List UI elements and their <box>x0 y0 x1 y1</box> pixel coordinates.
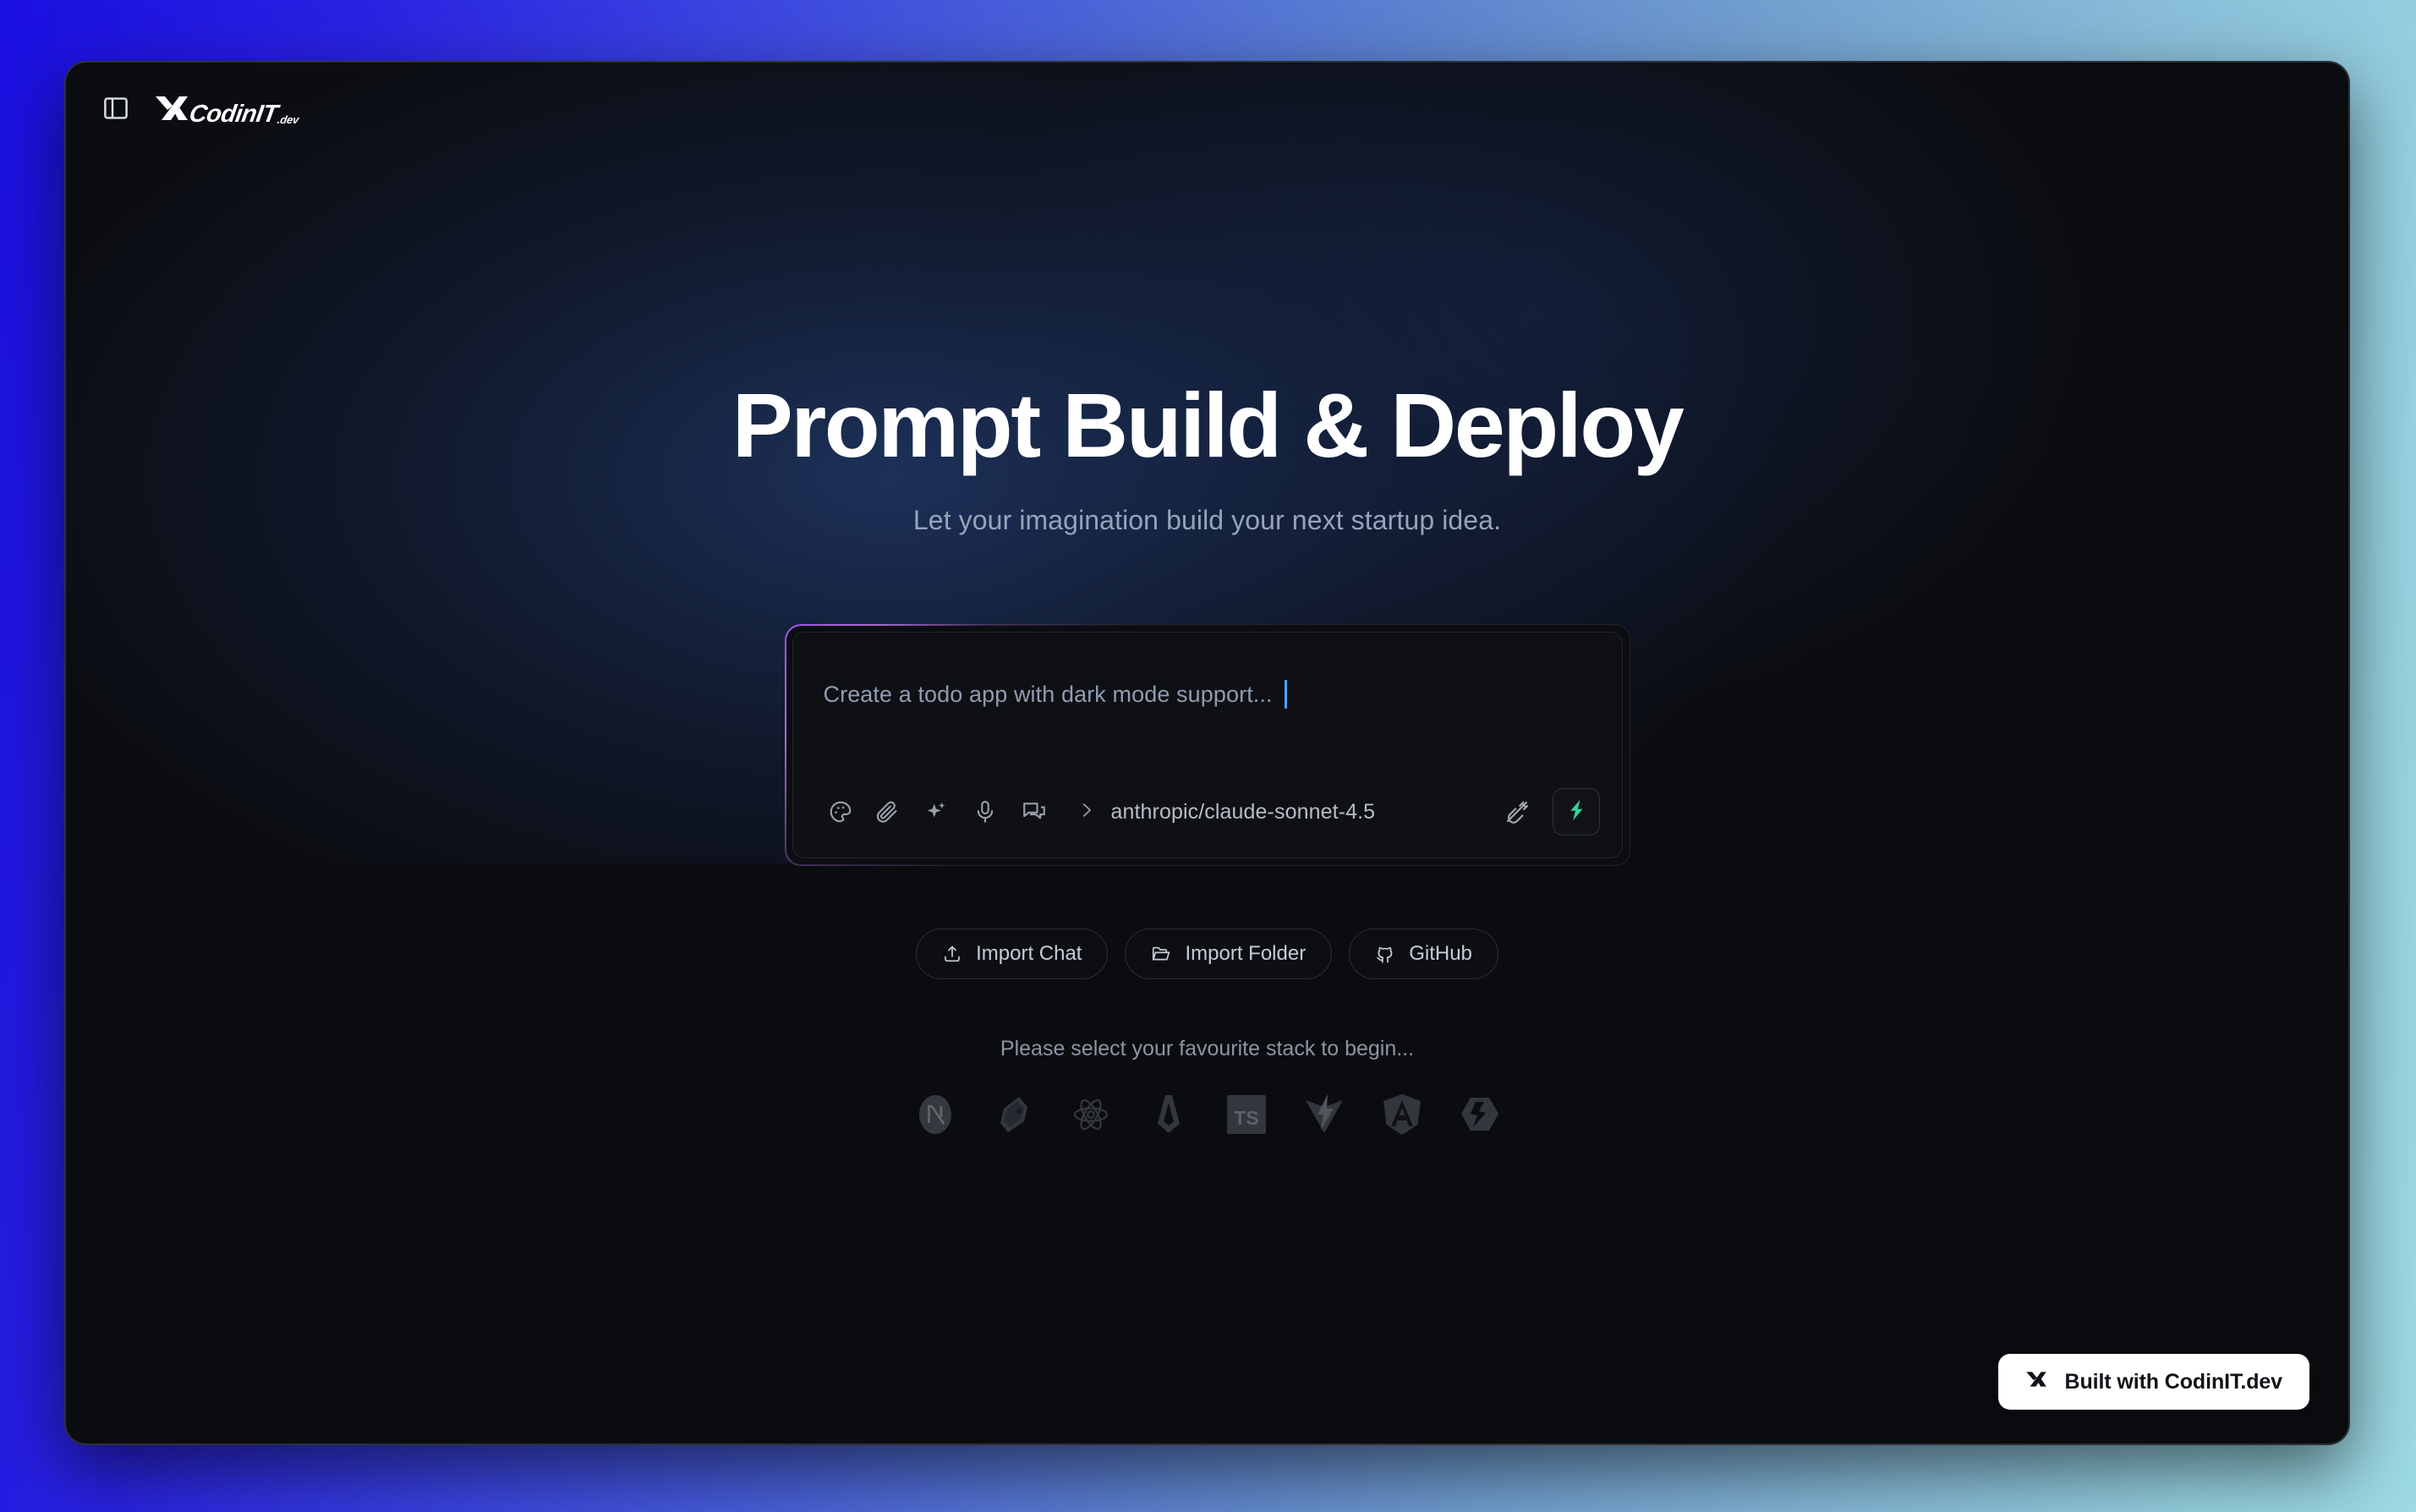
palette-icon[interactable] <box>819 791 863 833</box>
panel-left-icon <box>104 97 128 123</box>
svelte-icon[interactable] <box>989 1090 1038 1139</box>
qwik-icon[interactable] <box>1455 1090 1504 1139</box>
prompt-composer: Create a todo app with dark mode support… <box>785 624 1630 866</box>
codinit-x-icon <box>2025 1370 2047 1394</box>
prompt-input-placeholder: Create a todo app with dark mode support… <box>824 682 1273 708</box>
import-actions: Import Chat Import Folder <box>916 929 1498 979</box>
chevron-right-icon <box>1077 799 1096 825</box>
brand-name: CodinIT <box>188 102 279 127</box>
chat-bubbles-icon[interactable] <box>1010 791 1059 833</box>
nextjs-icon[interactable] <box>911 1090 960 1139</box>
prompt-composer-inner: Create a todo app with dark mode support… <box>792 632 1623 858</box>
model-name-label: anthropic/claude-sonnet-4.5 <box>1111 800 1376 824</box>
codinit-x-icon <box>154 94 189 127</box>
plug-off-icon[interactable] <box>1497 792 1537 832</box>
typescript-icon[interactable]: TS <box>1222 1090 1271 1139</box>
top-bar: CodinIT .dev <box>66 63 2348 157</box>
built-with-badge[interactable]: Built with CodinIT.dev <box>1998 1354 2309 1410</box>
svg-text:TS: TS <box>1234 1107 1258 1129</box>
built-with-badge-label: Built with CodinIT.dev <box>2064 1370 2282 1394</box>
astro-icon[interactable] <box>1144 1090 1193 1139</box>
lightning-bolt-icon <box>1564 797 1589 827</box>
github-icon <box>1375 944 1395 964</box>
desktop-background: CodinIT .dev Prompt Build & Deploy Let y… <box>0 0 2416 1512</box>
model-selector[interactable]: anthropic/claude-sonnet-4.5 <box>1071 794 1383 830</box>
brand-tld: .dev <box>277 114 299 125</box>
text-caret <box>1285 680 1287 709</box>
import-chat-button[interactable]: Import Chat <box>916 929 1108 979</box>
microphone-icon[interactable] <box>961 791 1010 833</box>
upload-icon <box>942 944 962 964</box>
stack-picker-row: TS <box>911 1090 1504 1139</box>
main-content: Prompt Build & Deploy Let your imaginati… <box>66 63 2348 1444</box>
send-button[interactable] <box>1553 788 1600 835</box>
angular-icon[interactable] <box>1378 1090 1427 1139</box>
composer-toolbar: anthropic/claude-sonnet-4.5 <box>793 788 1622 857</box>
app-window: CodinIT .dev Prompt Build & Deploy Let y… <box>64 61 2350 1445</box>
page-subtitle: Let your imagination build your next sta… <box>913 505 1501 536</box>
stack-picker-label: Please select your favourite stack to be… <box>1000 1037 1414 1061</box>
vite-icon[interactable] <box>1300 1090 1349 1139</box>
page-title: Prompt Build & Deploy <box>732 377 1683 473</box>
import-chat-label: Import Chat <box>976 942 1082 966</box>
sparkles-icon[interactable] <box>912 791 961 833</box>
prompt-input-row[interactable]: Create a todo app with dark mode support… <box>793 633 1622 709</box>
composer-actions <box>1497 788 1600 835</box>
import-folder-label: Import Folder <box>1185 942 1306 966</box>
sidebar-toggle-button[interactable] <box>101 97 130 123</box>
react-icon[interactable] <box>1066 1090 1115 1139</box>
folder-open-icon <box>1151 944 1171 964</box>
github-button[interactable]: GitHub <box>1349 929 1498 979</box>
github-label: GitHub <box>1409 942 1472 966</box>
brand-logo[interactable]: CodinIT .dev <box>154 94 299 127</box>
paperclip-icon[interactable] <box>863 791 912 833</box>
import-folder-button[interactable]: Import Folder <box>1125 929 1332 979</box>
